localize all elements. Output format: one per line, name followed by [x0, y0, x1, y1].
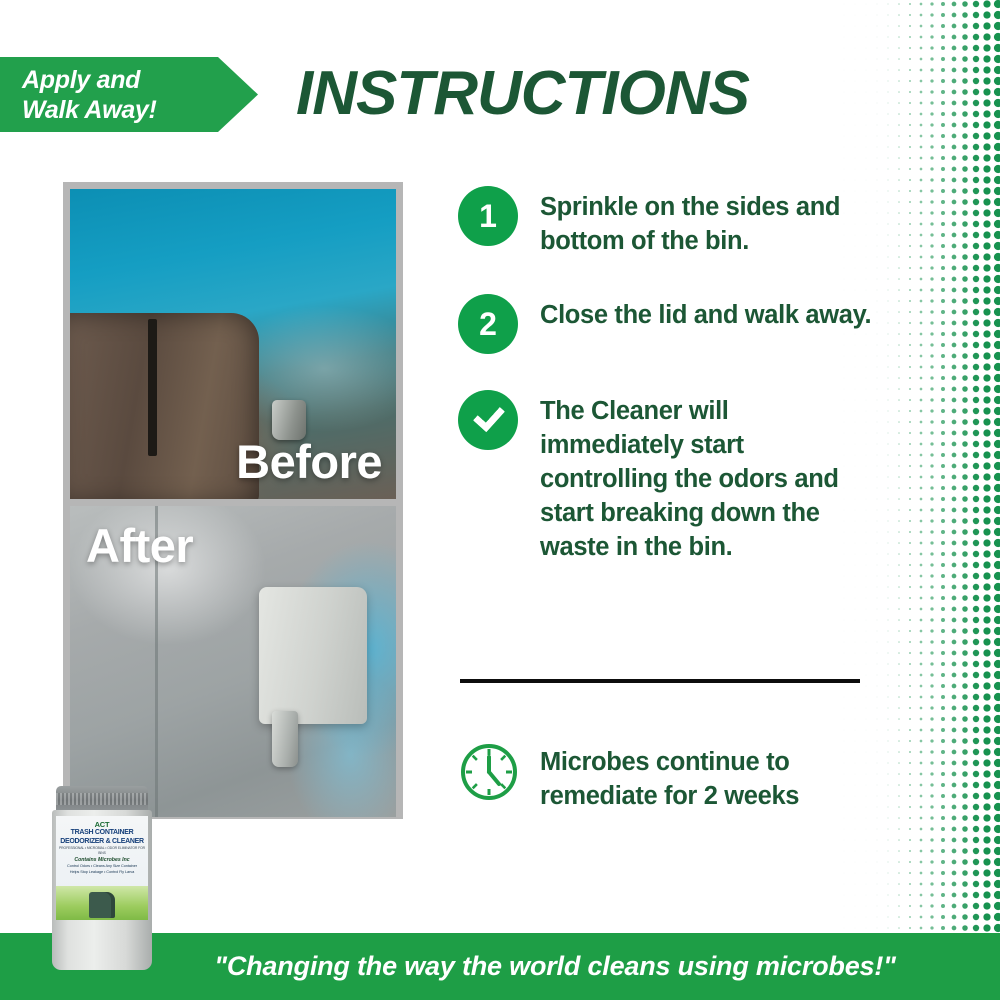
- footnote-text: Microbes continue to remediate for 2 wee…: [540, 741, 878, 813]
- photo-after: After: [70, 506, 396, 817]
- step-number-badge: 2: [458, 294, 518, 354]
- photo-label-before: Before: [236, 438, 382, 485]
- label-grass-scene: [56, 886, 148, 920]
- step-item: 1 Sprinkle on the sides and bottom of th…: [458, 186, 878, 258]
- clock-icon: [458, 741, 520, 803]
- product-bullet-1: Control Odors • Cleans Any Size Containe…: [56, 863, 148, 869]
- bottle-cap: [56, 786, 148, 812]
- quote-text: "Changing the way the world cleans using…: [104, 951, 896, 982]
- section-divider: [460, 679, 860, 683]
- step-item: 2 Close the lid and walk away.: [458, 294, 878, 354]
- infographic-page: Apply and Walk Away! INSTRUCTIONS Before…: [0, 0, 1000, 1000]
- banner-line-2: Walk Away!: [22, 95, 258, 125]
- clock-icon-svg: [458, 741, 520, 803]
- photo-before: Before: [70, 189, 396, 499]
- product-line-2: DEODORIZER & CLEANER: [56, 838, 148, 847]
- product-brand: ACT: [56, 820, 148, 829]
- bin-latch-before: [272, 400, 306, 440]
- bin-gap-shadow: [148, 319, 157, 455]
- bin-panel-after: [259, 587, 367, 724]
- apply-walk-away-banner: Apply and Walk Away!: [0, 57, 258, 132]
- instruction-steps-list: 1 Sprinkle on the sides and bottom of th…: [458, 186, 878, 600]
- product-fineprint: PROFESSIONAL • MICROBIAL • ODOR ELIMINAT…: [56, 846, 148, 855]
- page-title: INSTRUCTIONS: [296, 58, 749, 130]
- step-item: The Cleaner will immediately start contr…: [458, 390, 878, 564]
- product-line-1: TRASH CONTAINER: [56, 829, 148, 838]
- footnote-row: Microbes continue to remediate for 2 wee…: [458, 741, 878, 813]
- before-after-photo-card: Before After: [63, 182, 403, 819]
- step-number-badge: 1: [458, 186, 518, 246]
- photo-label-after: After: [86, 522, 193, 569]
- step-text: The Cleaner will immediately start contr…: [540, 390, 878, 564]
- trash-cart-icon: [89, 892, 115, 918]
- bin-latch-after: [272, 711, 298, 767]
- bottle-label: ACT TRASH CONTAINER DEODORIZER & CLEANER…: [56, 816, 148, 920]
- product-bottle: ACT TRASH CONTAINER DEODORIZER & CLEANER…: [48, 786, 156, 970]
- banner-line-1: Apply and: [22, 65, 258, 95]
- step-text: Sprinkle on the sides and bottom of the …: [540, 186, 878, 258]
- step-text: Close the lid and walk away.: [540, 294, 871, 332]
- product-bullet-2: Helps Stop Leakage • Control Fly Larva: [56, 869, 148, 875]
- check-icon: [458, 390, 518, 450]
